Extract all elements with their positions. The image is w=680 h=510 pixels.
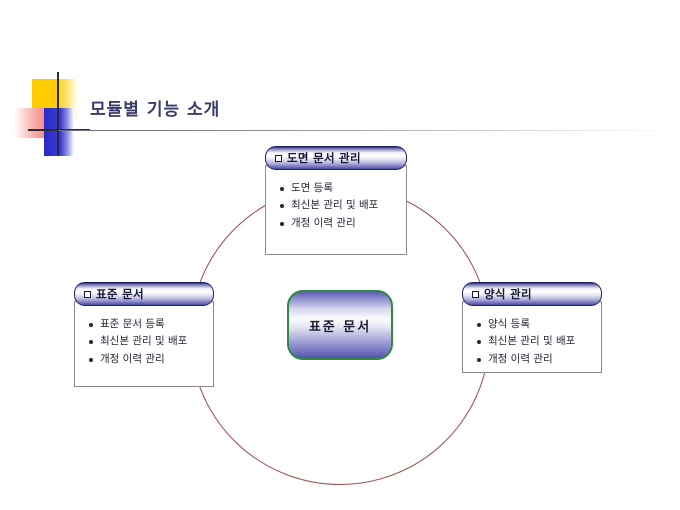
node-drawing-document-management[interactable]: 도면 문서 관리 도면 등록 최신본 관리 및 배포 개정 이력 관리 [265, 146, 407, 255]
square-bullet-icon [472, 291, 479, 298]
list-item: 최신본 관리 및 배포 [89, 333, 203, 350]
list-item: 표준 문서 등록 [89, 316, 203, 333]
feature-list-form: 양식 등록 최신본 관리 및 배포 개정 이력 관리 [477, 316, 591, 368]
node-header-standard[interactable]: 표준 문서 [74, 282, 214, 306]
center-hub-standard-document[interactable]: 표준 문서 [287, 290, 393, 360]
node-form-management[interactable]: 양식 관리 양식 등록 최신본 관리 및 배포 개정 이력 관리 [462, 282, 602, 373]
square-bullet-icon [275, 155, 282, 162]
node-header-drawing[interactable]: 도면 문서 관리 [265, 146, 407, 170]
node-body-standard: 표준 문서 등록 최신본 관리 및 배포 개정 이력 관리 [74, 301, 214, 387]
square-bullet-icon [84, 291, 91, 298]
feature-list-drawing: 도면 등록 최신본 관리 및 배포 개정 이력 관리 [280, 180, 396, 232]
list-item: 최신본 관리 및 배포 [477, 333, 591, 350]
node-body-form: 양식 등록 최신본 관리 및 배포 개정 이력 관리 [462, 301, 602, 373]
node-body-drawing: 도면 등록 최신본 관리 및 배포 개정 이력 관리 [265, 165, 407, 255]
feature-list-standard: 표준 문서 등록 최신본 관리 및 배포 개정 이력 관리 [89, 316, 203, 368]
list-item: 도면 등록 [280, 180, 396, 197]
list-item: 개정 이력 관리 [280, 215, 396, 232]
node-title-standard: 표준 문서 [96, 286, 144, 302]
list-item: 개정 이력 관리 [89, 351, 203, 368]
node-standard-document[interactable]: 표준 문서 표준 문서 등록 최신본 관리 및 배포 개정 이력 관리 [74, 282, 214, 387]
node-title-form: 양식 관리 [484, 286, 532, 302]
node-title-drawing: 도면 문서 관리 [287, 150, 361, 166]
list-item: 최신본 관리 및 배포 [280, 197, 396, 214]
list-item: 개정 이력 관리 [477, 351, 591, 368]
center-hub-label: 표준 문서 [309, 316, 371, 335]
node-header-form[interactable]: 양식 관리 [462, 282, 602, 306]
cycle-diagram: 도면 문서 관리 도면 등록 최신본 관리 및 배포 개정 이력 관리 표준 문… [0, 0, 680, 510]
list-item: 양식 등록 [477, 316, 591, 333]
